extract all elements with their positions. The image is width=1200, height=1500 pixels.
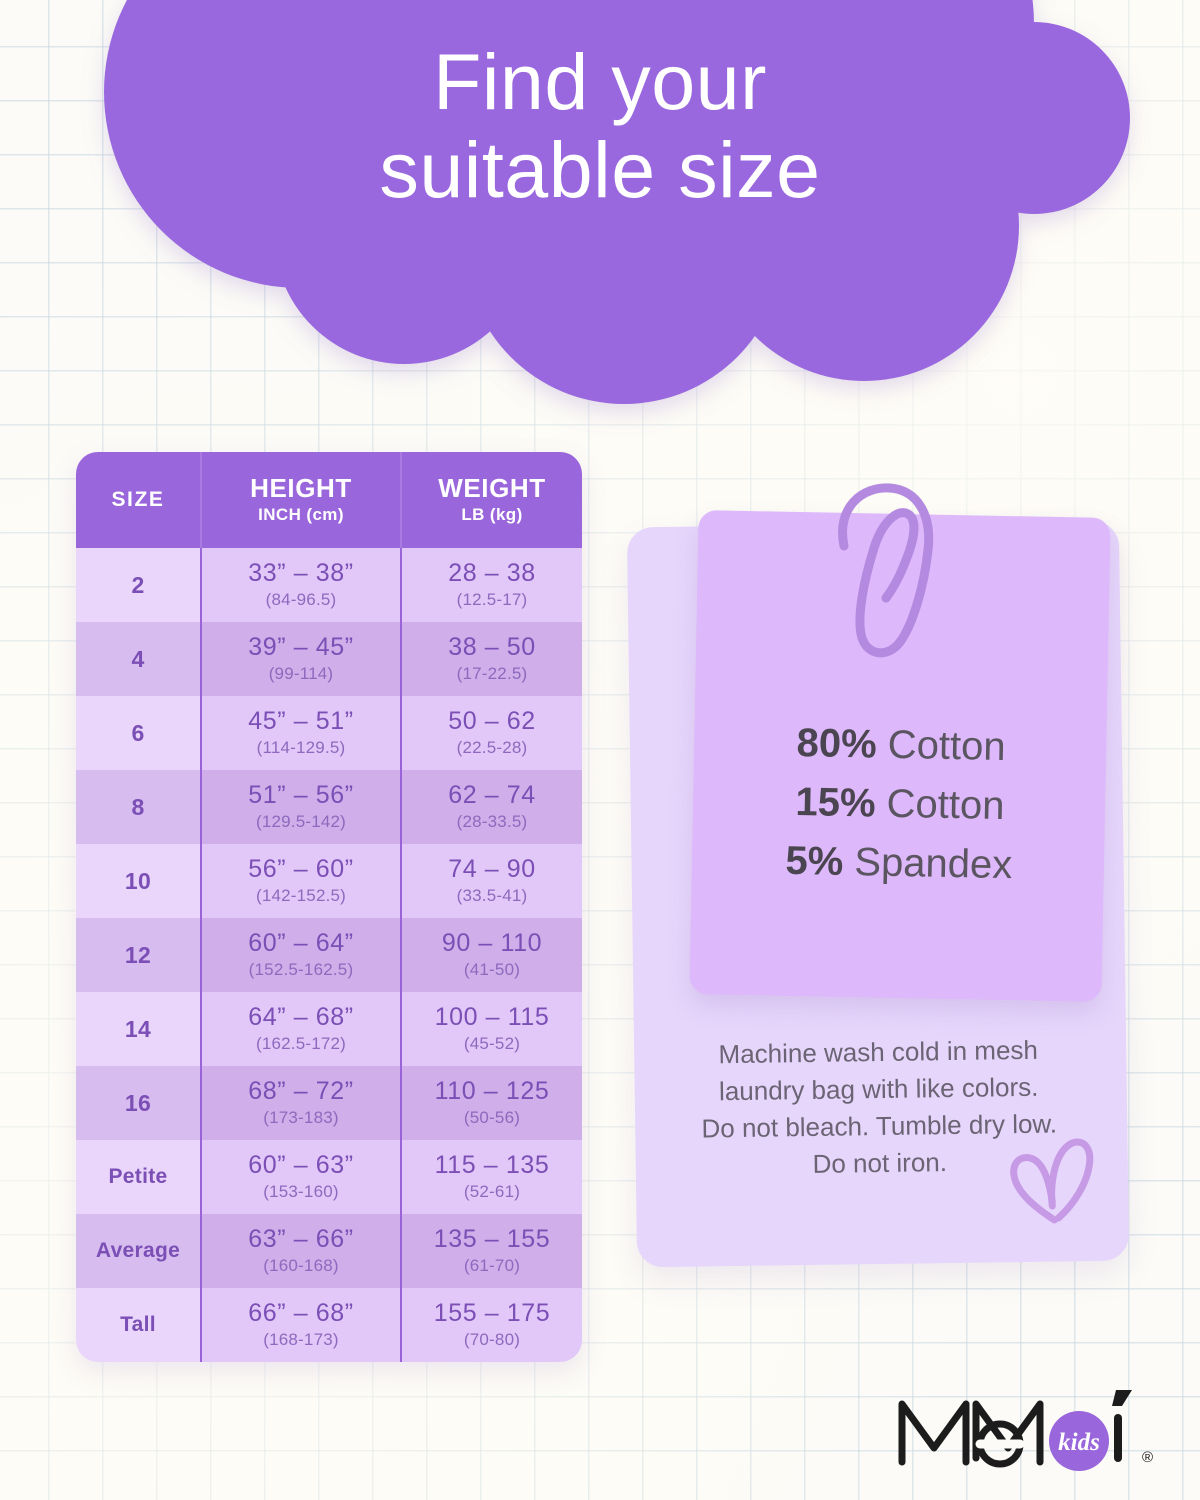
size-value: 4 bbox=[131, 646, 144, 673]
cell-size: 8 bbox=[76, 770, 200, 844]
cell-size: 16 bbox=[76, 1066, 200, 1140]
height-inch: 64” – 68” bbox=[248, 1004, 353, 1032]
table-header-row: SIZE HEIGHT INCH (cm) WEIGHT LB (kg) bbox=[76, 452, 582, 548]
size-value: Average bbox=[96, 1239, 180, 1263]
page-title: Find your suitable size bbox=[0, 38, 1200, 215]
size-value: 16 bbox=[125, 1090, 151, 1117]
memoi-kids-logo: kids ® bbox=[892, 1386, 1172, 1478]
table-row: 6 45” – 51”(114-129.5) 50 – 62(22.5-28) bbox=[76, 696, 582, 770]
size-chart-table: SIZE HEIGHT INCH (cm) WEIGHT LB (kg) 2 3… bbox=[76, 452, 582, 1362]
cell-weight: 28 – 38(12.5-17) bbox=[400, 548, 582, 622]
cell-size: 12 bbox=[76, 918, 200, 992]
weight-kg: (70-80) bbox=[464, 1330, 520, 1350]
height-cm: (173-183) bbox=[263, 1108, 339, 1128]
height-inch: 56” – 60” bbox=[248, 856, 353, 884]
cell-weight: 50 – 62(22.5-28) bbox=[400, 696, 582, 770]
cell-height: 66” – 68”(168-173) bbox=[200, 1288, 400, 1362]
cell-size: Tall bbox=[76, 1288, 200, 1362]
cell-weight: 74 – 90(33.5-41) bbox=[400, 844, 582, 918]
composition-material: Cotton bbox=[875, 782, 1005, 828]
weight-lb: 28 – 38 bbox=[448, 560, 536, 588]
weight-lb: 90 – 110 bbox=[442, 930, 542, 958]
weight-kg: (17-22.5) bbox=[457, 664, 528, 684]
cell-height: 51” – 56”(129.5-142) bbox=[200, 770, 400, 844]
size-value: 2 bbox=[131, 572, 144, 599]
title-line-2: suitable size bbox=[0, 126, 1200, 214]
cell-size: 6 bbox=[76, 696, 200, 770]
cell-height: 33” – 38”(84-96.5) bbox=[200, 548, 400, 622]
cell-size: Average bbox=[76, 1214, 200, 1288]
cell-height: 64” – 68”(162.5-172) bbox=[200, 992, 400, 1066]
table-row: Tall 66” – 68”(168-173) 155 – 175(70-80) bbox=[76, 1288, 582, 1362]
weight-kg: (50-56) bbox=[464, 1108, 520, 1128]
care-line: Machine wash cold in mesh bbox=[653, 1031, 1103, 1074]
cell-height: 45” – 51”(114-129.5) bbox=[200, 696, 400, 770]
height-cm: (129.5-142) bbox=[256, 812, 346, 832]
height-inch: 68” – 72” bbox=[248, 1078, 353, 1106]
cell-height: 39” – 45”(99-114) bbox=[200, 622, 400, 696]
size-value: 6 bbox=[131, 720, 144, 747]
weight-lb: 100 – 115 bbox=[435, 1004, 550, 1032]
size-value: 12 bbox=[125, 942, 151, 969]
size-value: 8 bbox=[131, 794, 144, 821]
cell-weight: 155 – 175(70-80) bbox=[400, 1288, 582, 1362]
composition-material: Cotton bbox=[876, 723, 1006, 769]
weight-lb: 74 – 90 bbox=[448, 856, 536, 884]
kids-badge-label: kids bbox=[1058, 1429, 1100, 1456]
height-cm: (142-152.5) bbox=[256, 886, 346, 906]
care-line: laundry bag with like colors. bbox=[654, 1068, 1104, 1111]
cell-height: 56” – 60”(142-152.5) bbox=[200, 844, 400, 918]
composition-material: Spandex bbox=[843, 840, 1013, 887]
table-row: 4 39” – 45”(99-114) 38 – 50(17-22.5) bbox=[76, 622, 582, 696]
fabric-composition: 80% Cotton 15% Cotton 5% Spandex bbox=[692, 712, 1107, 897]
composition-line: 80% Cotton bbox=[695, 712, 1108, 779]
height-inch: 60” – 63” bbox=[248, 1152, 353, 1180]
header-height-label: HEIGHT bbox=[250, 475, 352, 502]
cell-height: 60” – 64”(152.5-162.5) bbox=[200, 918, 400, 992]
weight-lb: 62 – 74 bbox=[448, 782, 536, 810]
size-value: Tall bbox=[120, 1313, 156, 1337]
cell-size: 4 bbox=[76, 622, 200, 696]
weight-lb: 110 – 125 bbox=[435, 1078, 550, 1106]
table-row: 8 51” – 56”(129.5-142) 62 – 74(28-33.5) bbox=[76, 770, 582, 844]
header-cell-size: SIZE bbox=[76, 452, 200, 548]
composition-line: 15% Cotton bbox=[693, 771, 1106, 838]
table-row: Petite 60” – 63”(153-160) 115 – 135(52-6… bbox=[76, 1140, 582, 1214]
cell-weight: 135 – 155(61-70) bbox=[400, 1214, 582, 1288]
header-size-label: SIZE bbox=[111, 489, 164, 511]
height-cm: (114-129.5) bbox=[257, 738, 346, 758]
table-row: 12 60” – 64”(152.5-162.5) 90 – 110(41-50… bbox=[76, 918, 582, 992]
table-row: Average 63” – 66”(160-168) 135 – 155(61-… bbox=[76, 1214, 582, 1288]
table-row: 14 64” – 68”(162.5-172) 100 – 115(45-52) bbox=[76, 992, 582, 1066]
height-cm: (153-160) bbox=[263, 1182, 339, 1202]
size-value: 10 bbox=[125, 868, 151, 895]
weight-kg: (28-33.5) bbox=[457, 812, 528, 832]
composition-percent: 5% bbox=[785, 839, 844, 884]
table-row: 10 56” – 60”(142-152.5) 74 – 90(33.5-41) bbox=[76, 844, 582, 918]
header-cell-weight: WEIGHT LB (kg) bbox=[400, 452, 582, 548]
weight-kg: (33.5-41) bbox=[457, 886, 528, 906]
weight-lb: 38 – 50 bbox=[448, 634, 536, 662]
registered-mark: ® bbox=[1142, 1449, 1153, 1466]
height-cm: (84-96.5) bbox=[266, 590, 337, 610]
weight-lb: 155 – 175 bbox=[434, 1300, 551, 1328]
height-cm: (162.5-172) bbox=[256, 1034, 346, 1054]
height-inch: 60” – 64” bbox=[248, 930, 353, 958]
table-row: 2 33” – 38”(84-96.5) 28 – 38(12.5-17) bbox=[76, 548, 582, 622]
cell-weight: 62 – 74(28-33.5) bbox=[400, 770, 582, 844]
cell-size: Petite bbox=[76, 1140, 200, 1214]
size-value: Petite bbox=[109, 1165, 168, 1189]
height-cm: (160-168) bbox=[263, 1256, 339, 1276]
height-inch: 39” – 45” bbox=[248, 634, 353, 662]
height-inch: 63” – 66” bbox=[248, 1226, 353, 1254]
header-height-unit: INCH (cm) bbox=[258, 505, 344, 525]
weight-kg: (22.5-28) bbox=[457, 738, 528, 758]
weight-lb: 135 – 155 bbox=[434, 1226, 551, 1254]
weight-kg: (61-70) bbox=[464, 1256, 520, 1276]
height-cm: (152.5-162.5) bbox=[249, 960, 354, 980]
height-inch: 45” – 51” bbox=[248, 708, 353, 736]
table-row: 16 68” – 72”(173-183) 110 – 125(50-56) bbox=[76, 1066, 582, 1140]
cell-weight: 100 – 115(45-52) bbox=[400, 992, 582, 1066]
height-inch: 33” – 38” bbox=[248, 560, 353, 588]
height-cm: (168-173) bbox=[263, 1330, 339, 1350]
header-weight-label: WEIGHT bbox=[438, 475, 546, 502]
cell-height: 63” – 66”(160-168) bbox=[200, 1214, 400, 1288]
cell-height: 60” – 63”(153-160) bbox=[200, 1140, 400, 1214]
weight-kg: (45-52) bbox=[464, 1034, 520, 1054]
weight-lb: 115 – 135 bbox=[435, 1152, 550, 1180]
size-value: 14 bbox=[125, 1016, 151, 1043]
height-inch: 66” – 68” bbox=[248, 1300, 353, 1328]
paperclip-icon bbox=[814, 474, 964, 664]
cell-weight: 38 – 50(17-22.5) bbox=[400, 622, 582, 696]
cell-weight: 110 – 125(50-56) bbox=[400, 1066, 582, 1140]
cell-weight: 90 – 110(41-50) bbox=[400, 918, 582, 992]
weight-lb: 50 – 62 bbox=[448, 708, 536, 736]
cell-height: 68” – 72”(173-183) bbox=[200, 1066, 400, 1140]
cell-size: 10 bbox=[76, 844, 200, 918]
header-cell-height: HEIGHT INCH (cm) bbox=[200, 452, 400, 548]
weight-kg: (12.5-17) bbox=[457, 590, 528, 610]
weight-kg: (41-50) bbox=[464, 960, 520, 980]
cell-weight: 115 – 135(52-61) bbox=[400, 1140, 582, 1214]
height-cm: (99-114) bbox=[269, 664, 334, 684]
composition-line: 5% Spandex bbox=[692, 830, 1105, 897]
composition-percent: 15% bbox=[795, 780, 876, 826]
composition-percent: 80% bbox=[796, 721, 877, 767]
care-note-cards: 80% Cotton 15% Cotton 5% Spandex Machine… bbox=[618, 496, 1138, 1286]
heart-doodle-icon bbox=[999, 1133, 1110, 1235]
height-inch: 51” – 56” bbox=[248, 782, 353, 810]
title-line-1: Find your bbox=[0, 38, 1200, 126]
cell-size: 2 bbox=[76, 548, 200, 622]
cell-size: 14 bbox=[76, 992, 200, 1066]
header-weight-unit: LB (kg) bbox=[461, 505, 522, 525]
weight-kg: (52-61) bbox=[464, 1182, 520, 1202]
